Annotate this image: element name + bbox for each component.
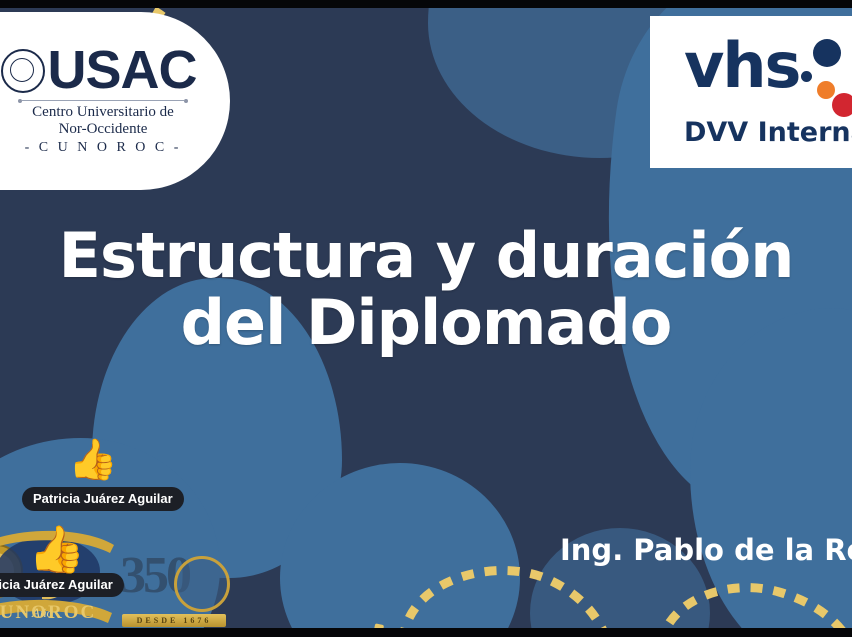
vhs-dvv-logo: vhs DVV Internati (650, 16, 852, 168)
vhs-dot-red (832, 93, 852, 117)
usac-subtitle-line-1: Centro Universitario de (32, 104, 174, 120)
letterbox-bar-top (0, 0, 852, 8)
usac-divider-rule (22, 100, 184, 101)
video-call-shared-slide: USAC Centro Universitario de Nor-Occiden… (0, 0, 852, 637)
slide-title-line-1: Estructura y duración (0, 223, 852, 290)
slide-title: Estructura y duración del Diplomado (0, 223, 852, 357)
usac-subtitle-line-2: Nor-Occidente (59, 121, 148, 137)
usac-seal-icon (1, 49, 45, 93)
anniversary-ring-icon (174, 556, 230, 612)
vhs-dots-icon (799, 37, 852, 113)
dashed-arc-bottom-right (655, 576, 852, 628)
thumbs-up-icon-2: 👍 (28, 526, 85, 572)
vhs-dot-orange (817, 81, 835, 99)
participant-name-badge-1: Patricia Juárez Aguilar (22, 487, 184, 511)
usac-campus-label: - C U N O R O C - (25, 140, 182, 156)
anniversary-number: 350 (120, 550, 189, 602)
dashed-dot-bottom-center (368, 620, 398, 628)
usac-wordmark-row: USAC (1, 46, 196, 95)
slide-title-line-2: del Diplomado (0, 290, 852, 357)
background-blob-bottom-mid (280, 463, 520, 628)
letterbox-bar-bottom (0, 628, 852, 637)
participant-name-badge-2: tricia Juárez Aguilar (0, 573, 124, 597)
anniversary-banner: DESDE 1676 (122, 614, 226, 627)
anniversary-campus-text: CUNOROC (0, 602, 96, 624)
usac-wordmark: USAC (47, 46, 196, 95)
presentation-slide: USAC Centro Universitario de Nor-Occiden… (0, 8, 852, 628)
vhs-wordmark-row: vhs (684, 37, 852, 113)
thumbs-up-icon-1: 👍 (68, 440, 118, 480)
vhs-subtitle: DVV Internati (684, 117, 852, 148)
usac-logo: USAC Centro Universitario de Nor-Occiden… (0, 12, 230, 190)
vhs-wordmark: vhs (684, 37, 799, 94)
usac-subtitle: Centro Universitario de Nor-Occidente (32, 104, 174, 138)
speaker-name: Ing. Pablo de la Roc (560, 533, 852, 567)
vhs-dot-navy-small (801, 71, 812, 82)
vhs-dot-navy-large (813, 39, 841, 67)
anniversary-350-emblem: 350 DESDE 1676 (118, 548, 230, 628)
